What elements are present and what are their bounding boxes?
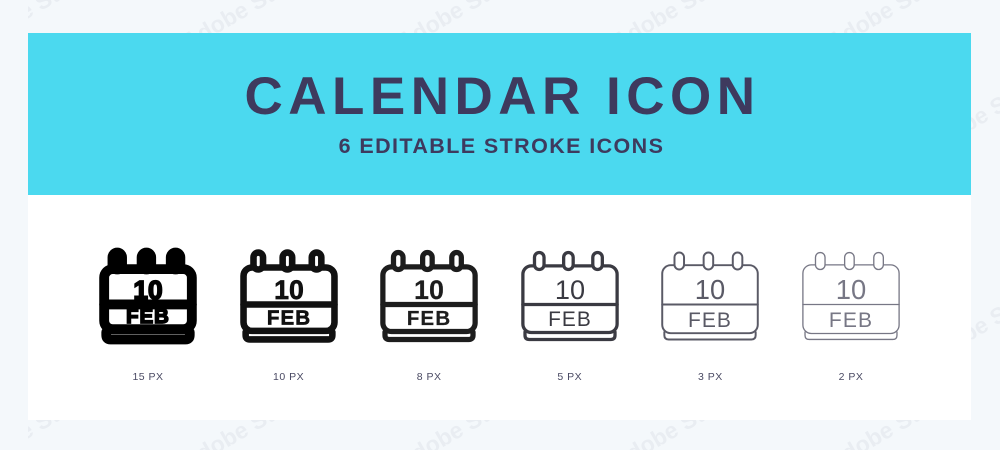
calendar-icon[interactable]: 10 FEB — [517, 243, 623, 349]
icon-gallery: 10 FEB 15 PX 10 FEB 10 PX 10 FEB 8 PX — [28, 195, 971, 420]
calendar-month-text: FEB — [688, 309, 732, 332]
icon-size-label: 2 PX — [839, 371, 864, 383]
calendar-day-text: 10 — [555, 274, 585, 305]
calendar-day-text: 10 — [836, 274, 866, 305]
calendar-month-text: FEB — [266, 307, 310, 330]
calendar-icon[interactable]: 10 FEB — [657, 243, 763, 349]
calendar-month-text: FEB — [829, 309, 873, 332]
calendar-month-text: FEB — [126, 306, 170, 328]
calendar-icon-art: 10 FEB — [517, 243, 623, 349]
icon-cell-3-px[interactable]: 10 FEB 3 PX — [646, 243, 774, 383]
calendar-icon[interactable]: 10 FEB — [376, 243, 482, 349]
stock-credit-strip: Adobe Stock | #499432203 — [0, 0, 28, 450]
icon-cell-15-px[interactable]: 10 FEB 15 PX — [84, 243, 212, 383]
header-band: CALENDAR ICON 6 EDITABLE STROKE ICONS — [28, 33, 971, 195]
icon-size-label: 5 PX — [557, 371, 582, 383]
calendar-month-text: FEB — [548, 308, 592, 331]
icon-size-label: 3 PX — [698, 371, 723, 383]
calendar-month-text: FEB — [407, 307, 452, 330]
poster-card: CALENDAR ICON 6 EDITABLE STROKE ICONS 10… — [28, 33, 971, 420]
calendar-day-text: 10 — [133, 275, 162, 305]
poster-canvas: Adobe StockAdobe StockAdobe StockAdobe S… — [0, 0, 1000, 450]
calendar-day-text: 10 — [695, 274, 725, 305]
icon-size-label: 15 PX — [132, 371, 163, 383]
calendar-icon[interactable]: 10 FEB — [236, 243, 342, 349]
calendar-icon[interactable]: 10 FEB — [798, 243, 904, 349]
icon-cell-5-px[interactable]: 10 FEB 5 PX — [506, 243, 634, 383]
icon-cell-10-px[interactable]: 10 FEB 10 PX — [225, 243, 353, 383]
icon-cell-2-px[interactable]: 10 FEB 2 PX — [787, 243, 915, 383]
calendar-day-text: 10 — [414, 275, 444, 305]
page-title: CALENDAR ICON — [238, 69, 760, 125]
icon-size-label: 8 PX — [417, 371, 442, 383]
calendar-icon-art: 10 FEB — [376, 243, 482, 349]
icon-size-label: 10 PX — [273, 371, 304, 383]
stock-credit-text: Adobe Stock | #499432203 — [0, 317, 1, 434]
calendar-icon-art: 10 FEB — [657, 243, 763, 349]
page-subtitle: 6 EDITABLE STROKE ICONS — [335, 134, 665, 159]
calendar-icon-art: 10 FEB — [236, 243, 342, 349]
calendar-icon-art: 10 FEB — [798, 243, 904, 349]
calendar-day-text: 10 — [274, 275, 304, 305]
calendar-icon[interactable]: 10 FEB — [95, 243, 201, 349]
icon-cell-8-px[interactable]: 10 FEB 8 PX — [365, 243, 493, 383]
calendar-icon-art: 10 FEB — [95, 243, 201, 349]
